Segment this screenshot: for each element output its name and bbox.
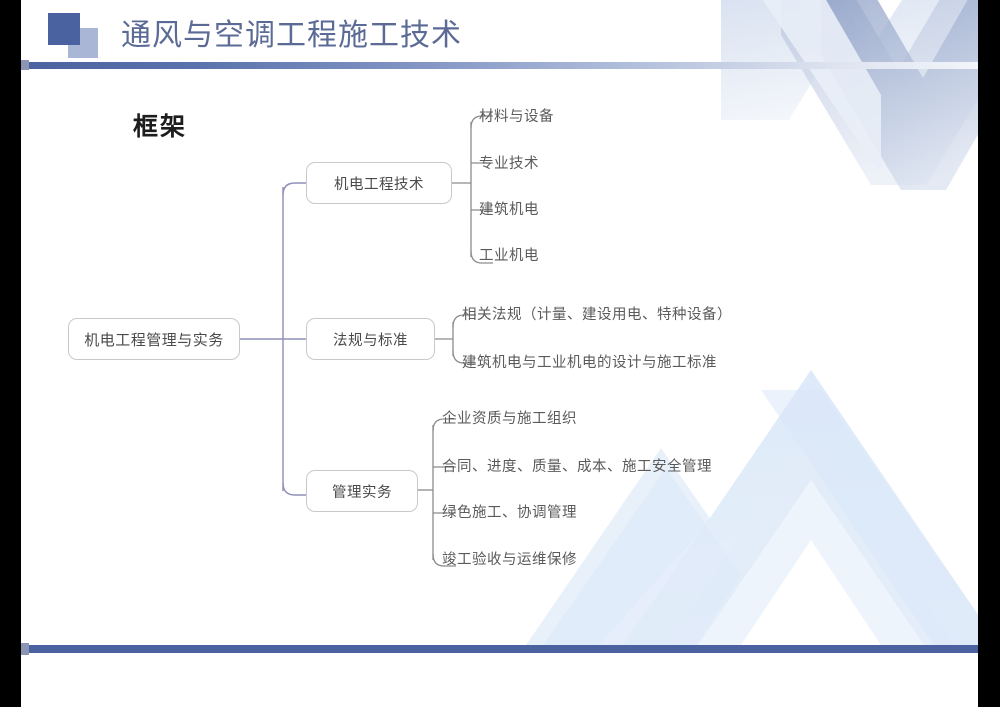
level1-connectors [240,183,306,495]
slide-canvas: 通风与空调工程施工技术 框架 [21,0,978,707]
mindmap-diagram: 机电工程管理与实务 机电工程技术 法规与标准 管理实务 材料与设备 专业技术 建… [21,0,978,707]
mindmap-branch-label-1: 机电工程技术 [334,173,424,194]
mindmap-branch-label-3: 管理实务 [332,481,392,502]
mindmap-leaf-1-1[interactable]: 材料与设备 [479,108,554,126]
level2-connectors-branch3 [418,419,456,566]
mindmap-branch-node-1[interactable]: 机电工程技术 [306,162,452,204]
level2-connectors-branch1 [452,116,493,263]
mindmap-leaf-3-1[interactable]: 企业资质与施工组织 [442,410,577,428]
mindmap-leaf-2-2[interactable]: 建筑机电与工业机电的设计与施工标准 [462,354,717,372]
mindmap-branch-node-3[interactable]: 管理实务 [306,470,418,512]
mindmap-leaf-1-4[interactable]: 工业机电 [479,247,539,265]
mindmap-root-label: 机电工程管理与实务 [84,329,224,350]
mindmap-leaf-2-1[interactable]: 相关法规（计量、建设用电、特种设备） [462,306,732,324]
footer-divider [21,645,978,653]
mindmap-leaf-3-4[interactable]: 竣工验收与运维保修 [442,551,577,569]
footer-divider-cap [21,643,29,655]
mindmap-branch-label-2: 法规与标准 [333,329,408,350]
mindmap-leaf-1-2[interactable]: 专业技术 [479,155,539,173]
mindmap-branch-node-2[interactable]: 法规与标准 [306,318,435,360]
mindmap-leaf-1-3[interactable]: 建筑机电 [479,201,539,219]
mindmap-leaf-3-2[interactable]: 合同、进度、质量、成本、施工安全管理 [442,458,712,476]
mindmap-leaf-3-3[interactable]: 绿色施工、协调管理 [442,504,577,522]
mindmap-root-node[interactable]: 机电工程管理与实务 [68,318,240,360]
